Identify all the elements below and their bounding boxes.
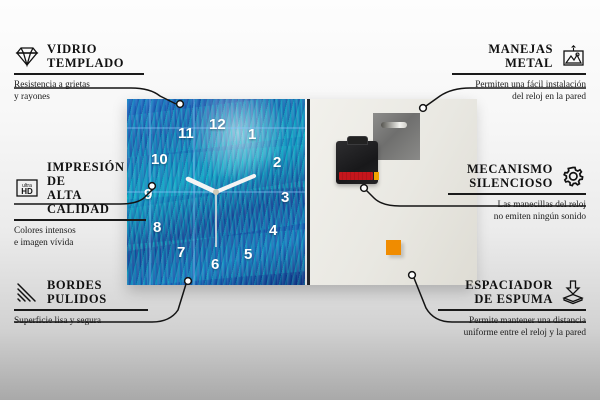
callout-title-line2: PULIDOS (47, 292, 107, 306)
callout-subtitle-line2: e imagen vívida (14, 238, 73, 248)
callout-rule (448, 193, 586, 195)
callout-rule (452, 73, 586, 75)
callout-rule (14, 73, 144, 75)
callout-subtitle-line1: Superficie lisa y segura (14, 316, 101, 326)
callout-subtitle-line1: Resistencia a grietas (14, 80, 90, 90)
callout-title-line2: SILENCIOSO (469, 176, 553, 190)
svg-text:HD: HD (21, 187, 33, 196)
callout-subtitle-line2: del reloj en la pared (512, 92, 586, 102)
foam-spacer-icon (560, 279, 586, 305)
callout-title-line1: VIDRIO (47, 42, 97, 56)
clock-front-view: 12 1 2 3 4 5 6 7 8 9 10 11 (127, 99, 305, 285)
callout-rule (438, 309, 586, 311)
battery-part (339, 172, 373, 180)
diamond-icon (14, 43, 40, 69)
callout-title-line1: MANEJAS (488, 42, 553, 56)
callout-title-line1: BORDES (47, 278, 102, 292)
clock-hands (127, 99, 305, 285)
callout-title-line2: TEMPLADO (47, 56, 124, 70)
clock-mechanism-part (336, 141, 378, 184)
callout-impresion-alta-calidad[interactable]: ultra HD IMPRESIÓN DE ALTA CALIDAD Color… (14, 160, 146, 249)
callout-rule (14, 309, 148, 311)
product-image: 12 1 2 3 4 5 6 7 8 9 10 11 (127, 99, 474, 285)
metal-hanger-part (373, 113, 420, 160)
callout-rule (14, 219, 146, 221)
callout-vidrio-templado[interactable]: VIDRIO TEMPLADO Resistencia a grietas y … (14, 42, 144, 103)
callout-manejas-metal[interactable]: MANEJAS METAL Permiten una fácil instala… (452, 42, 586, 103)
infographic-canvas: 12 1 2 3 4 5 6 7 8 9 10 11 (0, 0, 600, 400)
gear-icon (560, 163, 586, 189)
hanger-slot (381, 122, 407, 128)
callout-subtitle-line2: y rayones (14, 92, 50, 102)
callout-subtitle-line2: uniforme entre el reloj y la pared (464, 328, 586, 338)
battery-cap (374, 172, 379, 180)
callout-title-line2: METAL (505, 56, 553, 70)
callout-subtitle-line1: Permiten una fácil instalación (475, 80, 586, 90)
callout-title-line2: ALTA CALIDAD (47, 188, 110, 216)
callout-title-line1: IMPRESIÓN DE (47, 160, 125, 188)
callout-title-line2: DE ESPUMA (474, 292, 553, 306)
callout-subtitle-line1: Colores intensos (14, 226, 76, 236)
callout-title-line1: ESPACIADOR (465, 278, 553, 292)
foam-spacer-part (386, 240, 401, 255)
callout-title-line1: MECANISMO (467, 162, 553, 176)
callout-bordes-pulidos[interactable]: BORDES PULIDOS Superficie lisa y segura (14, 278, 148, 327)
callout-subtitle-line1: Permite mantener una distancia (469, 316, 586, 326)
framed-picture-icon (560, 43, 586, 69)
callout-espaciador-espuma[interactable]: ESPACIADOR DE ESPUMA Permite mantener un… (438, 278, 586, 339)
polished-edges-icon (14, 279, 40, 305)
mechanism-tab (347, 136, 368, 145)
callout-subtitle-line1: Las manecillas del reloj (497, 200, 586, 210)
callout-subtitle-line2: no emiten ningún sonido (494, 212, 586, 222)
ultra-hd-icon: ultra HD (14, 175, 40, 201)
callout-mecanismo-silencioso[interactable]: MECANISMO SILENCIOSO Las manecillas del … (448, 162, 586, 223)
